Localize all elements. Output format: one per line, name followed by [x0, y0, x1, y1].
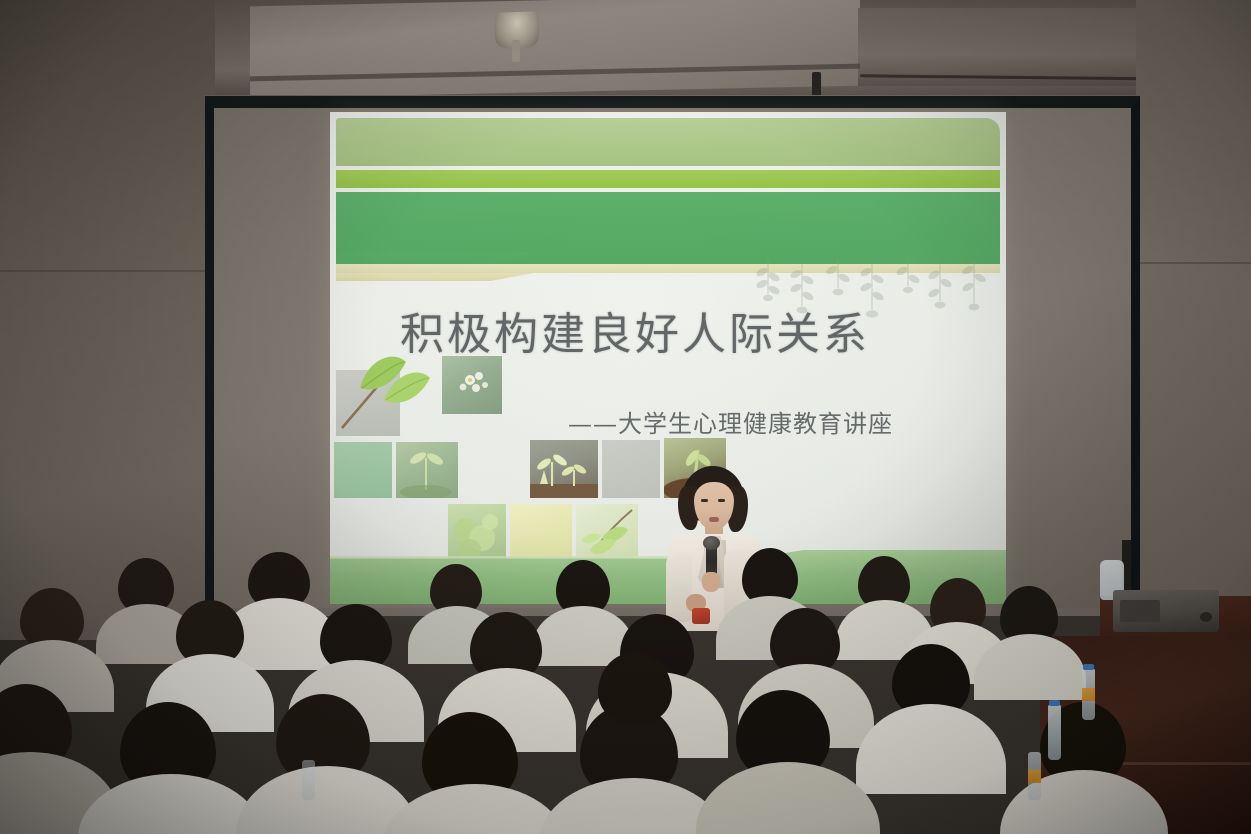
ceiling-beam [250, 0, 860, 98]
collage-photo-big-leaf [354, 348, 432, 412]
audience-shoulder [856, 704, 1006, 794]
collage-photo-sprout-moss [396, 442, 458, 498]
lecture-hall-photo: 积极构建良好人际关系 ——大学生心理健康教育讲座 [0, 0, 1251, 834]
audience [0, 552, 1251, 834]
collage-photo-solid-green [334, 442, 392, 498]
collage-photo-two-seedlings [530, 440, 598, 498]
presenter-eye-left [701, 499, 708, 502]
audience-shoulder [382, 784, 568, 834]
ceiling-lamp-stem [512, 40, 520, 62]
wall-left [0, 0, 215, 640]
water-bottle [1048, 704, 1061, 760]
wall-seam-left [0, 270, 205, 272]
slide-band-cream-left [336, 273, 534, 281]
water-bottle [302, 760, 315, 800]
presenter-mouth [709, 517, 719, 522]
wall-seam-right [1136, 262, 1251, 264]
audience-shoulder [696, 762, 880, 834]
audience-shoulder [1000, 770, 1168, 834]
water-bottle-cap [1049, 700, 1060, 706]
slide-band-bright-green [336, 170, 1000, 188]
water-bottle-cap [1083, 664, 1094, 670]
microphone-head [703, 536, 720, 550]
water-bottle-label [1082, 688, 1095, 701]
wall-right [1136, 0, 1251, 600]
collage-photo-white-flower [442, 356, 502, 414]
presenter-eye-right [718, 499, 725, 502]
slide-subtitle: ——大学生心理健康教育讲座 [568, 404, 998, 439]
water-bottle-label [1028, 770, 1041, 783]
slide-band-light-green [336, 118, 1000, 166]
audience-head [598, 652, 672, 724]
